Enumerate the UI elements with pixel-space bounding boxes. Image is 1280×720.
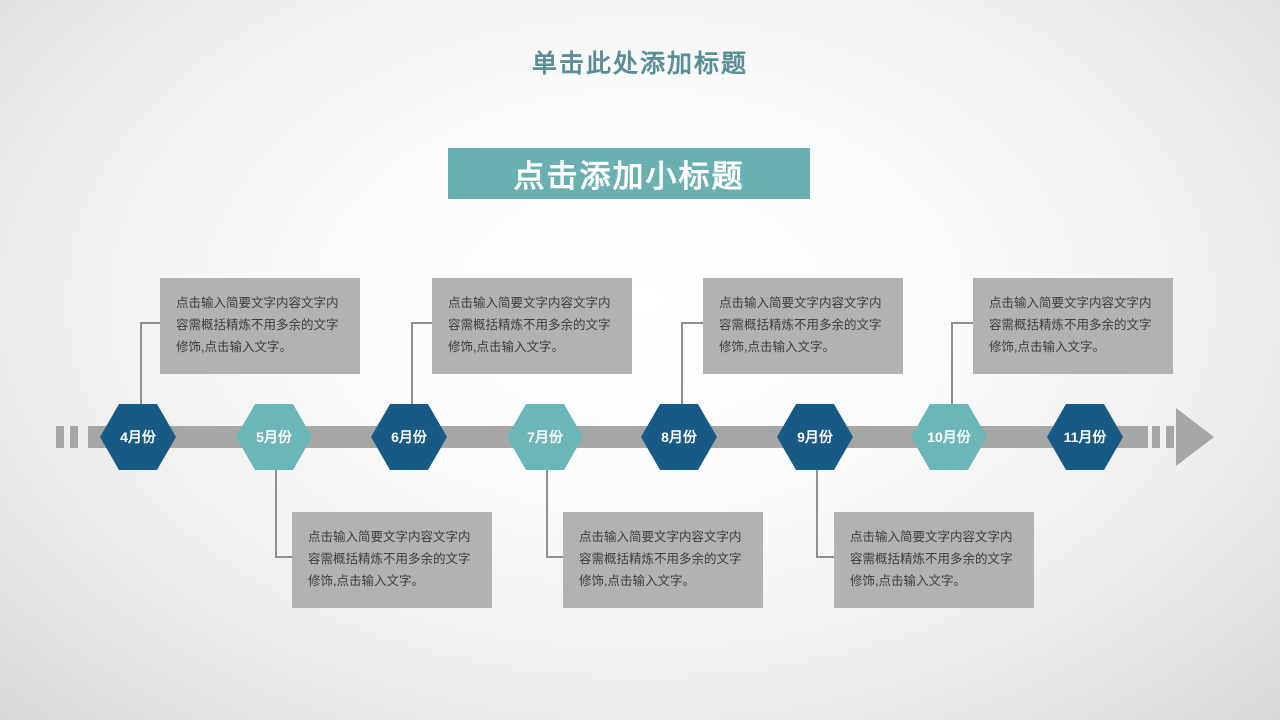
timeline-tick-right-1 <box>1152 426 1160 448</box>
subtitle-text: 点击添加小标题 <box>514 151 745 196</box>
timeline-node-5月份[interactable]: 5月份 <box>236 404 312 470</box>
timeline-tick-left-2 <box>70 426 78 448</box>
timeline-node-8月份[interactable]: 8月份 <box>641 404 717 470</box>
textbox-9月份[interactable]: 点击输入简要文字内容文字内容需概括精炼不用多余的文字修饰,点击输入文字。 <box>834 512 1034 608</box>
textbox-8月份[interactable]: 点击输入简要文字内容文字内容需概括精炼不用多余的文字修饰,点击输入文字。 <box>703 278 903 374</box>
timeline-node-6月份[interactable]: 6月份 <box>371 404 447 470</box>
timeline-node-11月份[interactable]: 11月份 <box>1047 404 1123 470</box>
textbox-4月份[interactable]: 点击输入简要文字内容文字内容需概括精炼不用多余的文字修饰,点击输入文字。 <box>160 278 360 374</box>
timeline-node-label: 10月份 <box>927 427 971 447</box>
timeline-node-label: 4月份 <box>120 427 156 447</box>
slide-canvas: 单击此处添加标题 点击添加小标题 4月份 5月份 6月份 7月份 8月份 9月份 <box>0 0 1280 720</box>
textbox-body: 点击输入简要文字内容文字内容需概括精炼不用多余的文字修饰,点击输入文字。 <box>308 526 476 592</box>
timeline-node-10月份[interactable]: 10月份 <box>911 404 987 470</box>
textbox-body: 点击输入简要文字内容文字内容需概括精炼不用多余的文字修饰,点击输入文字。 <box>176 292 344 358</box>
textbox-body: 点击输入简要文字内容文字内容需概括精炼不用多余的文字修饰,点击输入文字。 <box>989 292 1157 358</box>
timeline-node-label: 7月份 <box>527 427 563 447</box>
subtitle-banner[interactable]: 点击添加小标题 <box>448 148 810 199</box>
timeline-node-7月份[interactable]: 7月份 <box>507 404 583 470</box>
timeline-tick-right-2 <box>1166 426 1174 448</box>
timeline-node-4月份[interactable]: 4月份 <box>100 404 176 470</box>
textbox-body: 点击输入简要文字内容文字内容需概括精炼不用多余的文字修饰,点击输入文字。 <box>579 526 747 592</box>
textbox-body: 点击输入简要文字内容文字内容需概括精炼不用多余的文字修饰,点击输入文字。 <box>719 292 887 358</box>
textbox-6月份[interactable]: 点击输入简要文字内容文字内容需概括精炼不用多余的文字修饰,点击输入文字。 <box>432 278 632 374</box>
timeline-node-label: 8月份 <box>661 427 697 447</box>
timeline-node-label: 6月份 <box>391 427 427 447</box>
textbox-7月份[interactable]: 点击输入简要文字内容文字内容需概括精炼不用多余的文字修饰,点击输入文字。 <box>563 512 763 608</box>
timeline-node-9月份[interactable]: 9月份 <box>777 404 853 470</box>
timeline-node-label: 5月份 <box>256 427 292 447</box>
textbox-body: 点击输入简要文字内容文字内容需概括精炼不用多余的文字修饰,点击输入文字。 <box>850 526 1018 592</box>
textbox-10月份[interactable]: 点击输入简要文字内容文字内容需概括精炼不用多余的文字修饰,点击输入文字。 <box>973 278 1173 374</box>
timeline-tick-left-1 <box>56 426 64 448</box>
timeline-node-label: 11月份 <box>1064 427 1107 447</box>
timeline-node-label: 9月份 <box>797 427 833 447</box>
timeline-arrow-icon <box>1176 408 1214 466</box>
textbox-5月份[interactable]: 点击输入简要文字内容文字内容需概括精炼不用多余的文字修饰,点击输入文字。 <box>292 512 492 608</box>
textbox-body: 点击输入简要文字内容文字内容需概括精炼不用多余的文字修饰,点击输入文字。 <box>448 292 616 358</box>
page-title[interactable]: 单击此处添加标题 <box>0 44 1280 80</box>
